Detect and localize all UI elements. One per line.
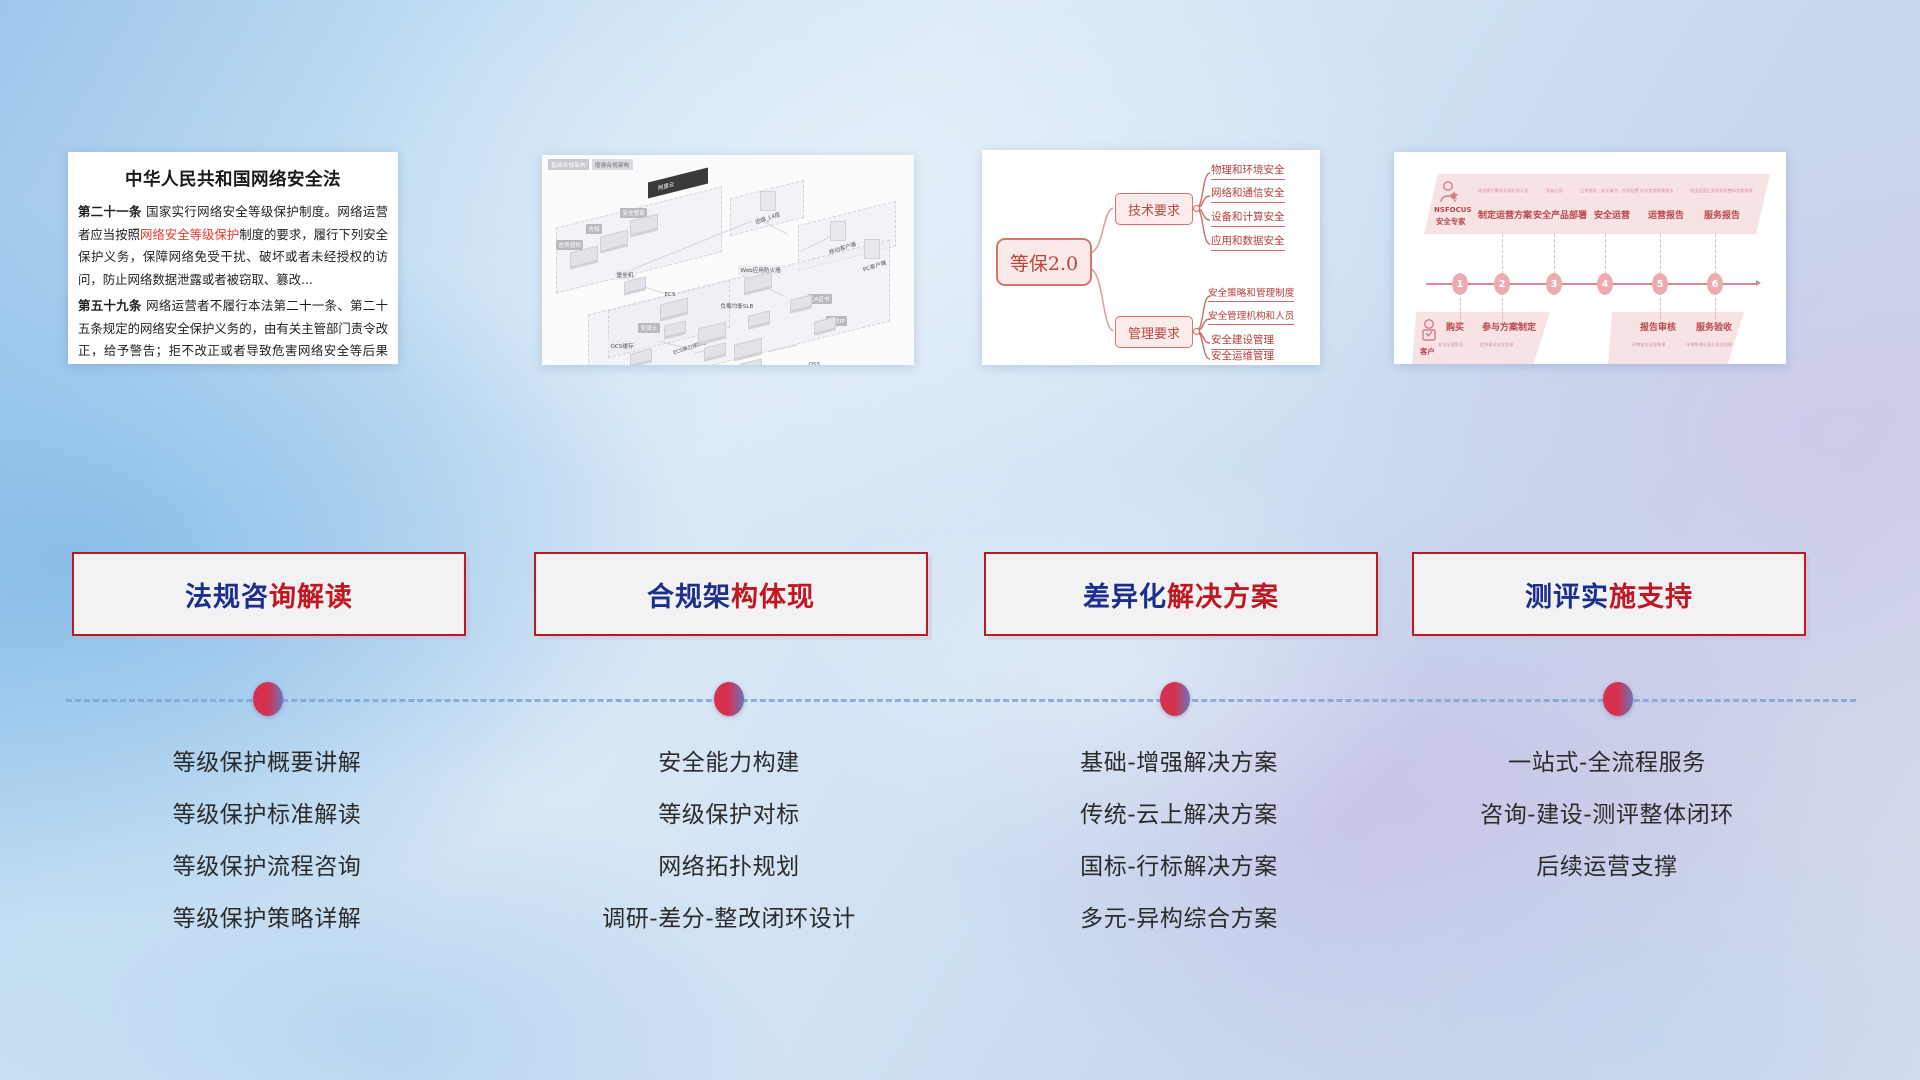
mindmap-leaf-ops-mgmt: 安全运维管理 xyxy=(1211,348,1274,365)
expert-label-line2: 安全专家 xyxy=(1436,216,1466,227)
card-process-timeline[interactable]: NSFOCUS 安全专家 客户 1 2 3 4 5 6 xyxy=(1394,152,1786,364)
mindmap-root-node[interactable]: 等保2.0 xyxy=(996,238,1092,286)
architecture-node-label: OSS xyxy=(806,361,823,365)
timeline-dot-4[interactable] xyxy=(1603,682,1633,716)
mindmap-branch-management[interactable]: 管理要求 xyxy=(1115,316,1193,348)
architecture-banner-label: 阿里云 xyxy=(658,180,674,192)
process-bottom-4-sub: 评审整改运营方案及效果 xyxy=(1686,342,1732,348)
section-title-4-blue: 测评实 xyxy=(1525,582,1609,613)
law-title: 中华人民共和国网络安全法 xyxy=(78,166,388,191)
section-title-4: 测评实施支持 xyxy=(1525,575,1693,614)
law-paragraph-2: 第五十九条 网络运营者不履行本法第二十一条、第二十五条规定的网络安全保护义务的，… xyxy=(78,295,388,364)
architecture-node-anti-ddos-ip: 高防IP xyxy=(814,319,836,331)
architecture-node-label: ECS xyxy=(662,291,678,299)
customer-label: 客户 xyxy=(1420,346,1435,357)
process-leader-5 xyxy=(1660,234,1661,274)
process-bottom-3-sub: 评审安全运营效果 xyxy=(1632,342,1666,348)
section-title-box-2[interactable]: 合规架构体现 xyxy=(534,552,928,636)
architecture-node-label: OCS缓存 xyxy=(608,341,636,351)
architecture-node-label: 负载均衡SLB xyxy=(718,301,756,311)
process-step-4-title: 安全运营 xyxy=(1594,208,1630,221)
list-item: 一站式-全流程服务 xyxy=(1412,752,1802,775)
list-item: 安全能力构建 xyxy=(534,752,924,775)
list-item: 等级保护流程咨询 xyxy=(72,856,462,879)
customer-person-icon xyxy=(1418,318,1440,344)
section-title-3: 差异化解决方案 xyxy=(1083,575,1279,614)
process-step-4-number[interactable]: 4 xyxy=(1597,273,1613,295)
list-item: 等级保护策略详解 xyxy=(72,908,462,931)
section-title-1-blue: 法规咨 xyxy=(185,582,269,613)
section-title-box-4[interactable]: 测评实施支持 xyxy=(1412,552,1806,636)
timeline-dot-2[interactable] xyxy=(714,682,744,716)
mindmap-leaf-network-comm: 网络和通信安全 xyxy=(1211,185,1285,203)
list-item: 多元-异构综合方案 xyxy=(984,908,1374,931)
list-item: 等级保护对标 xyxy=(534,804,924,827)
architecture-node-extra-1 xyxy=(698,325,726,340)
process-bottom-1-sub: 安全运营报告 xyxy=(1438,342,1463,348)
process-bottom-3-title: 报告审核 xyxy=(1640,320,1676,333)
process-step-1-number[interactable]: 1 xyxy=(1452,273,1468,295)
mindmap-leaf-physical-env: 物理和环境安全 xyxy=(1211,162,1285,180)
process-step-5-sub: 针对定期效果报告 xyxy=(1640,188,1674,194)
architecture-node-anqishi: 安骑士 xyxy=(664,323,686,335)
process-step-3-title: 安全产品部署 xyxy=(1533,208,1587,221)
architecture-server-icon xyxy=(760,191,776,211)
card-mindmap-dengbao[interactable]: 等保2.0 技术要求 物理和环境安全 网络和通信安全 设备和计算安全 应用和数据… xyxy=(982,150,1320,365)
process-axis-arrow-icon xyxy=(1756,280,1761,286)
mindmap-leaf-device-compute: 设备和计算安全 xyxy=(1211,209,1285,227)
list-item: 传统-云上解决方案 xyxy=(984,804,1374,827)
section-title-1: 法规咨询解读 xyxy=(185,575,353,614)
section-title-2-red: 构体现 xyxy=(731,582,815,613)
architecture-node-label: 态势感知 xyxy=(556,240,583,250)
process-bottom-2-title: 参与方案制定 xyxy=(1482,320,1536,333)
section-title-4-red: 施支持 xyxy=(1609,582,1693,613)
architecture-node-xianzhi: 先知 xyxy=(600,233,628,248)
section-title-box-1[interactable]: 法规咨询解读 xyxy=(72,552,466,636)
architecture-node-ecs: ECS xyxy=(660,301,688,316)
process-step-5-number[interactable]: 5 xyxy=(1652,273,1668,295)
process-step-2-sub: 结合客户需求及现阶段人员 xyxy=(1478,188,1528,194)
process-step-4-sub: 日常巡检、安全事件、应用处置 xyxy=(1580,188,1639,194)
mindmap-collapse-dot-technical[interactable] xyxy=(1193,205,1200,212)
timeline-dot-1[interactable] xyxy=(253,682,283,716)
process-leader-6 xyxy=(1715,234,1716,274)
architecture-node-bastion-host: 堡垒机 xyxy=(624,279,646,291)
process-leader-4 xyxy=(1605,234,1606,274)
process-leader-2 xyxy=(1502,234,1503,274)
section-title-1-red: 询解读 xyxy=(269,582,353,613)
mindmap-diagram: 等保2.0 技术要求 物理和环境安全 网络和通信安全 设备和计算安全 应用和数据… xyxy=(982,150,1320,365)
process-bottom-1-title: 购买 xyxy=(1446,320,1464,333)
section-items-2: 安全能力构建 等级保护对标 网络拓扑规划 调研-差分-整改闭环设计 xyxy=(534,752,924,931)
architecture-tabs: 基础合规架构 增强合规架构 xyxy=(548,159,633,170)
architecture-tab-basic[interactable]: 基础合规架构 xyxy=(548,159,589,170)
section-title-3-blue: 差异化 xyxy=(1083,582,1167,613)
process-step-2-number[interactable]: 2 xyxy=(1494,273,1510,295)
architecture-tab-enhanced[interactable]: 增强合规架构 xyxy=(592,159,633,170)
process-step-3-sub: 实施方案 xyxy=(1546,188,1563,194)
architecture-node-waf: Web应用防火墙 xyxy=(744,275,772,290)
timeline-dashed-rail xyxy=(66,699,1856,702)
section-items-3: 基础-增强解决方案 传统-云上解决方案 国标-行标解决方案 多元-异构综合方案 xyxy=(984,752,1374,931)
list-item: 等级保护标准解读 xyxy=(72,804,462,827)
process-band-top xyxy=(1424,174,1770,234)
process-bottom-2-sub: 提供基本现状信息 xyxy=(1480,342,1514,348)
section-title-3-red: 解决方案 xyxy=(1167,582,1279,613)
list-item: 调研-差分-整改闭环设计 xyxy=(534,908,924,931)
mindmap-leaf-policy-system: 安全策略和管理制度 xyxy=(1208,285,1294,302)
architecture-server-icon xyxy=(830,221,846,241)
section-title-2: 合规架构体现 xyxy=(647,575,815,614)
section-title-2-blue: 合规架 xyxy=(647,582,731,613)
process-step-2-title: 制定运营方案 xyxy=(1478,208,1532,221)
mindmap-leaf-app-data: 应用和数据安全 xyxy=(1211,233,1285,251)
section-title-box-3[interactable]: 差异化解决方案 xyxy=(984,552,1378,636)
card-cloud-architecture[interactable]: 基础合规架构 增强合规架构 阿里云 安全管家 xyxy=(542,155,914,365)
process-step-6-title: 服务报告 xyxy=(1704,208,1740,221)
architecture-node-shape xyxy=(740,358,762,365)
mindmap-collapse-dot-management[interactable] xyxy=(1193,328,1200,335)
list-item: 等级保护概要讲解 xyxy=(72,752,462,775)
architecture-node-extra-2 xyxy=(704,345,726,357)
section-items-4: 一站式-全流程服务 咨询-建设-测评整体闭环 后续运营支撑 xyxy=(1412,752,1802,879)
list-item: 网络拓扑规划 xyxy=(534,856,924,879)
timeline-dot-3[interactable] xyxy=(1160,682,1190,716)
law-text-1b-highlight: 网络安全等级保护 xyxy=(140,227,239,242)
list-item: 后续运营支撑 xyxy=(1412,856,1802,879)
card-cybersecurity-law[interactable]: 中华人民共和国网络安全法 第二十一条 国家实行网络安全等级保护制度。网络运营者应… xyxy=(68,152,398,364)
mindmap-leaf-org-personnel: 安全管理机构和人员 xyxy=(1208,308,1294,325)
law-article-number-1: 第二十一条 xyxy=(78,204,142,219)
process-bottom-4-title: 服务验收 xyxy=(1696,320,1732,333)
architecture-node-ca-cert: CA证书 xyxy=(790,297,812,309)
architecture-node-security-butler: 安全管家 xyxy=(630,217,658,232)
list-item: 国标-行标解决方案 xyxy=(984,856,1374,879)
architecture-node-label: 安骑士 xyxy=(638,323,660,333)
section-items-1: 等级保护概要讲解 等级保护标准解读 等级保护流程咨询 等级保护策略详解 xyxy=(72,752,462,931)
architecture-node-extra-4 xyxy=(740,361,762,365)
expert-person-icon xyxy=(1436,180,1460,206)
architecture-node-extra-3 xyxy=(734,341,762,356)
mindmap-branch-technical[interactable]: 技术要求 xyxy=(1115,193,1193,225)
process-step-3-number[interactable]: 3 xyxy=(1546,273,1562,295)
architecture-server-icon xyxy=(864,239,880,259)
process-leader-3 xyxy=(1554,234,1555,274)
list-item: 基础-增强解决方案 xyxy=(984,752,1374,775)
architecture-node-slb: 负载均衡SLB xyxy=(748,313,770,325)
process-step-5-title: 运营报告 xyxy=(1648,208,1684,221)
process-diagram: NSFOCUS 安全专家 客户 1 2 3 4 5 6 xyxy=(1394,152,1786,364)
list-item: 咨询-建设-测评整体闭环 xyxy=(1412,804,1802,827)
process-step-6-sub: 给出运营汇报总结及整体定期效果 xyxy=(1690,188,1753,194)
law-article-number-2: 第五十九条 xyxy=(78,298,142,313)
process-step-6-number[interactable]: 6 xyxy=(1707,273,1723,295)
architecture-diagram: 基础合规架构 增强合规架构 阿里云 安全管家 xyxy=(542,155,914,365)
expert-label-line1: NSFOCUS xyxy=(1434,206,1472,214)
law-paragraph-1: 第二十一条 国家实行网络安全等级保护制度。网络运营者应当按照网络安全等级保护制度… xyxy=(78,201,388,291)
architecture-node-situational-awareness: 态势感知 xyxy=(570,249,598,264)
architecture-node-label: 先知 xyxy=(586,224,602,234)
architecture-node-ocs-cache: OCS缓存 xyxy=(630,351,652,363)
